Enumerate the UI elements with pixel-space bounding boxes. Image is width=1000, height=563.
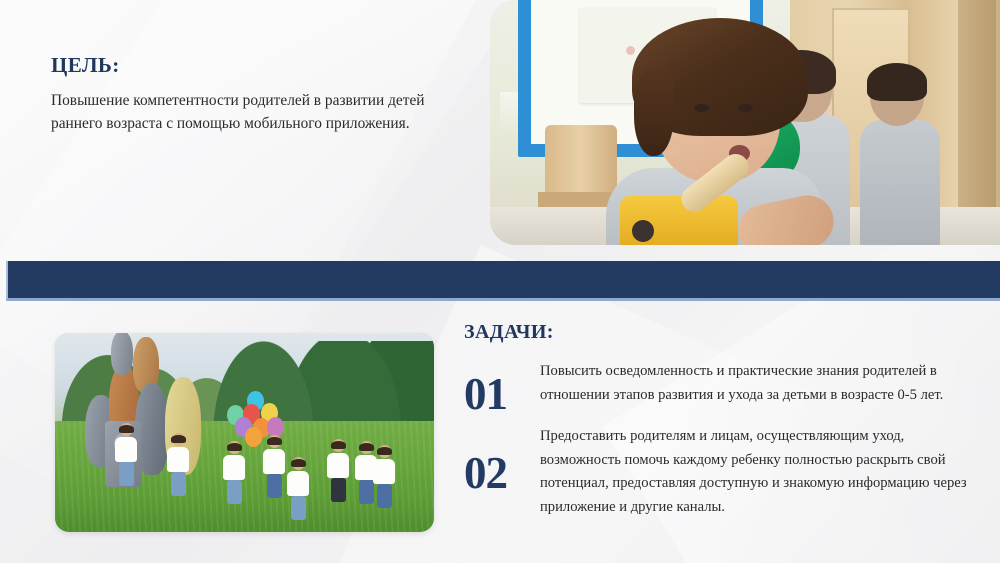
- photo-boy-classroom-scene: [490, 0, 1000, 245]
- task-item: 01 Повысить осведомленность и практическ…: [464, 360, 988, 417]
- running-child-5-hair: [291, 459, 306, 467]
- running-child-5: [287, 459, 309, 520]
- running-child-3-hair: [227, 443, 242, 451]
- balloon-amber: [245, 427, 262, 447]
- boy-eye-left: [694, 104, 709, 112]
- running-child-4-shirt: [263, 449, 285, 474]
- running-child-6-hair: [331, 441, 346, 449]
- running-child-7-hair: [359, 443, 374, 451]
- goal-text: Повышение компетентности родителей в раз…: [51, 90, 461, 135]
- running-child-3-shirt: [223, 455, 245, 480]
- task-text: Предоставить родителям и лицам, осуществ…: [540, 425, 988, 520]
- photo-children-running: [55, 333, 434, 532]
- background-child-2-body: [860, 120, 940, 245]
- running-child-6-shirt: [327, 453, 349, 478]
- running-child-6-legs: [331, 478, 346, 502]
- pot-6: [111, 333, 133, 375]
- running-child-1-legs: [119, 462, 134, 486]
- running-child-7-legs: [359, 480, 374, 504]
- navy-divider-bar: [6, 261, 1000, 301]
- yellow-toy-truck: [620, 196, 738, 245]
- running-child-6: [327, 441, 349, 502]
- running-child-4-legs: [267, 474, 282, 498]
- running-child-4-hair: [267, 437, 282, 445]
- running-child-1: [115, 425, 137, 486]
- running-child-2-hair: [171, 435, 186, 443]
- photo-boy-classroom: [490, 0, 1000, 245]
- goal-title: ЦЕЛЬ:: [51, 54, 461, 77]
- running-child-5-shirt: [287, 471, 309, 496]
- tasks-list: 01 Повысить осведомленность и практическ…: [464, 360, 988, 528]
- running-child-3: [223, 443, 245, 504]
- tasks-title: ЗАДАЧИ:: [464, 321, 554, 344]
- goal-block: ЦЕЛЬ: Повышение компетентности родителей…: [51, 54, 461, 135]
- slide-canvas: ЦЕЛЬ: Повышение компетентности родителей…: [0, 0, 1000, 563]
- boy-hair-side: [634, 70, 674, 156]
- running-child-8-shirt: [373, 459, 395, 484]
- running-child-2-shirt: [167, 447, 189, 472]
- task-number: 02: [464, 425, 540, 496]
- running-child-5-legs: [291, 496, 306, 520]
- task-number: 01: [464, 360, 540, 417]
- background-child-2: [860, 68, 940, 243]
- running-child-8: [373, 447, 395, 508]
- balloon-pink: [267, 417, 284, 437]
- task-text: Повысить осведомленность и практические …: [540, 360, 988, 407]
- running-child-3-legs: [227, 480, 242, 504]
- running-child-1-shirt: [115, 437, 137, 462]
- running-child-2: [167, 435, 189, 496]
- boy-eye-right: [738, 104, 753, 112]
- background-child-2-hair: [867, 63, 927, 101]
- running-child-1-hair: [119, 425, 134, 433]
- running-child-2-legs: [171, 472, 186, 496]
- running-child-8-legs: [377, 484, 392, 508]
- task-item: 02 Предоставить родителям и лицам, осуще…: [464, 425, 988, 520]
- running-child-8-hair: [377, 447, 392, 455]
- running-child-4: [263, 437, 285, 498]
